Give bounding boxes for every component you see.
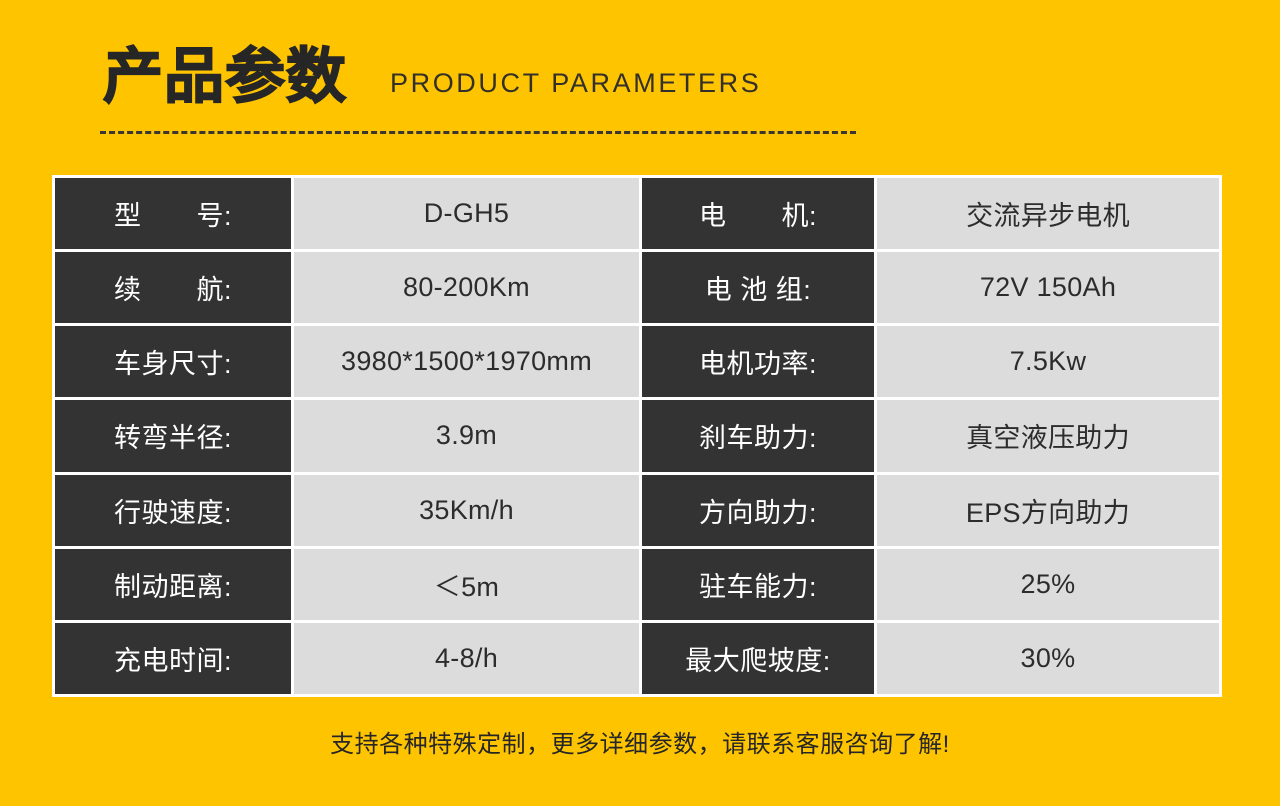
table-row: 车身尺寸: 3980*1500*1970mm 电机功率: 7.5Kw [55, 326, 1219, 397]
param-value: 30% [877, 623, 1219, 694]
param-label: 转弯半径: [55, 400, 291, 471]
page-subtitle: PRODUCT PARAMETERS [390, 66, 761, 100]
param-label: 最大爬坡度: [642, 623, 874, 694]
param-value: 25% [877, 549, 1219, 620]
param-label: 行驶速度: [55, 475, 291, 546]
param-label: 电机功率: [642, 326, 874, 397]
param-label: 方向助力: [642, 475, 874, 546]
table-row: 续 航: 80-200Km 电 池 组: 72V 150Ah [55, 252, 1219, 323]
param-value: 3.9m [294, 400, 639, 471]
param-label: 型 号: [55, 178, 291, 249]
param-label: 充电时间: [55, 623, 291, 694]
param-label: 续 航: [55, 252, 291, 323]
table-row: 型 号: D-GH5 电 机: 交流异步电机 [55, 178, 1219, 249]
table-row: 行驶速度: 35Km/h 方向助力: EPS方向助力 [55, 475, 1219, 546]
param-value: 3980*1500*1970mm [294, 326, 639, 397]
param-value: 交流异步电机 [877, 178, 1219, 249]
param-value: EPS方向助力 [877, 475, 1219, 546]
table-row: 制动距离: ＜5m 驻车能力: 25% [55, 549, 1219, 620]
table-row: 转弯半径: 3.9m 刹车助力: 真空液压助力 [55, 400, 1219, 471]
param-label: 车身尺寸: [55, 326, 291, 397]
param-label: 电 机: [642, 178, 874, 249]
param-value: 35Km/h [294, 475, 639, 546]
param-value: 真空液压助力 [877, 400, 1219, 471]
param-label: 制动距离: [55, 549, 291, 620]
param-label: 刹车助力: [642, 400, 874, 471]
table-row: 充电时间: 4-8/h 最大爬坡度: 30% [55, 623, 1219, 694]
page-title: 产品参数 [103, 40, 347, 114]
param-label: 驻车能力: [642, 549, 874, 620]
param-value: 7.5Kw [877, 326, 1219, 397]
parameters-table-body: 型 号: D-GH5 电 机: 交流异步电机 续 航: 80-200Km 电 池… [52, 175, 1222, 697]
footer-note: 支持各种特殊定制，更多详细参数，请联系客服咨询了解! [0, 726, 1280, 764]
param-value: ＜5m [294, 549, 639, 620]
param-value: 4-8/h [294, 623, 639, 694]
param-label: 电 池 组: [642, 252, 874, 323]
param-value: D-GH5 [294, 178, 639, 249]
header-divider [100, 131, 856, 134]
parameters-table: 型 号: D-GH5 电 机: 交流异步电机 续 航: 80-200Km 电 池… [52, 175, 1222, 697]
page-header: 产品参数 PRODUCT PARAMETERS [0, 0, 1280, 150]
param-value: 80-200Km [294, 252, 639, 323]
param-value: 72V 150Ah [877, 252, 1219, 323]
